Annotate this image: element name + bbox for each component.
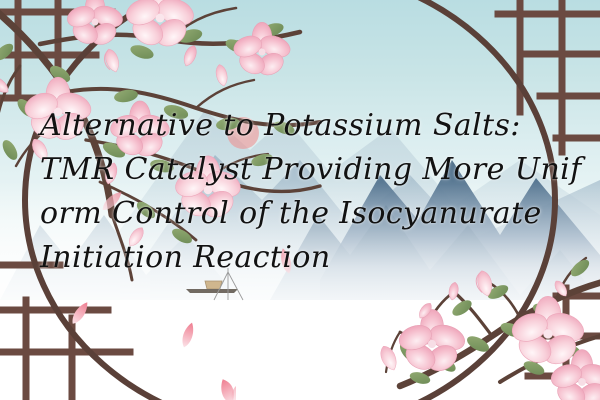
title-line-2: TMR Catalyst Providing More Unif [40,148,560,192]
title-line-1: Alternative to Potassium Salts: [40,104,560,148]
title-line-4: Initiation Reaction [40,236,560,280]
title-line-3: orm Control of the Isocyanurate [40,192,560,236]
page-title: Alternative to Potassium Salts: TMR Cata… [40,104,560,280]
title-card: Alternative to Potassium Salts: TMR Cata… [0,0,600,400]
petal [69,300,91,327]
petal [180,321,197,349]
